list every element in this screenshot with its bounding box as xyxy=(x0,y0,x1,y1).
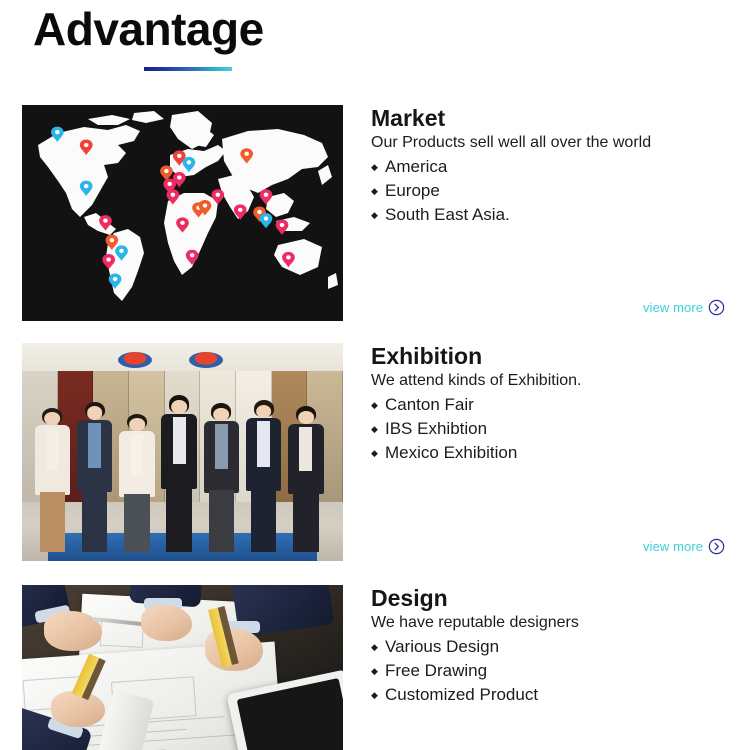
map-pin-icon xyxy=(102,254,115,270)
market-bullet-list: ◆America ◆Europe ◆South East Asia. xyxy=(371,155,736,227)
list-item-label: Free Drawing xyxy=(385,661,487,680)
person xyxy=(204,403,240,552)
map-pin-icon xyxy=(282,252,295,268)
list-item-label: IBS Exhibtion xyxy=(385,419,487,438)
legs xyxy=(166,486,192,552)
title-underline-gradient xyxy=(144,67,232,71)
map-pin-icon xyxy=(167,189,180,205)
map-pins-layer xyxy=(22,105,343,321)
market-title: Market xyxy=(371,105,736,132)
diamond-bullet-icon: ◆ xyxy=(371,683,378,707)
market-view-more-link[interactable]: view more xyxy=(643,299,725,316)
design-copy: Design We have reputable designers ◆Vari… xyxy=(371,585,736,707)
exhibition-copy: Exhibition We attend kinds of Exhibition… xyxy=(371,343,736,465)
head xyxy=(45,412,61,425)
list-item: ◆IBS Exhibtion xyxy=(371,417,736,441)
hand xyxy=(141,605,192,641)
shirt xyxy=(46,428,59,471)
section-market: Market Our Products sell well all over t… xyxy=(0,105,750,321)
person xyxy=(77,402,113,553)
legs xyxy=(293,491,319,552)
design-title: Design xyxy=(371,585,736,612)
exhibition-bullet-list: ◆Canton Fair ◆IBS Exhibtion ◆Mexico Exhi… xyxy=(371,393,736,465)
shirt xyxy=(88,423,101,468)
map-pin-icon xyxy=(51,127,64,143)
map-pin-icon xyxy=(240,148,253,164)
exhibition-subtitle: We attend kinds of Exhibition. xyxy=(371,370,736,392)
list-item-label: Mexico Exhibition xyxy=(385,443,517,462)
shirt xyxy=(173,417,186,464)
diamond-bullet-icon: ◆ xyxy=(371,441,378,465)
legs xyxy=(209,490,235,553)
page-header: Advantage xyxy=(33,0,264,58)
exhibition-title: Exhibition xyxy=(371,343,736,370)
view-more-label: view more xyxy=(643,539,703,554)
head xyxy=(256,405,272,419)
person xyxy=(288,406,324,552)
view-more-label: view more xyxy=(643,300,703,315)
exhibition-image-booth-photo[interactable] xyxy=(22,343,343,561)
list-item: ◆Customized Product xyxy=(371,683,736,707)
person xyxy=(161,395,197,552)
map-pin-icon xyxy=(183,157,196,173)
map-pin-icon xyxy=(260,189,273,205)
design-scene xyxy=(22,585,343,750)
booth-logo-icon xyxy=(189,352,223,368)
list-item: ◆Free Drawing xyxy=(371,659,736,683)
head xyxy=(171,400,187,414)
list-item: ◆Europe xyxy=(371,179,736,203)
list-item: ◆South East Asia. xyxy=(371,203,736,227)
map-pin-icon xyxy=(234,204,247,220)
map-pin-icon xyxy=(80,140,93,156)
list-item-label: Europe xyxy=(385,181,440,200)
diamond-bullet-icon: ◆ xyxy=(371,203,378,227)
person xyxy=(35,408,71,552)
map-pin-icon xyxy=(186,250,199,266)
legs xyxy=(40,492,66,553)
map-pin-icon xyxy=(260,213,273,229)
list-item-label: Various Design xyxy=(385,637,499,656)
head xyxy=(129,418,145,430)
list-item-label: Customized Product xyxy=(385,685,538,704)
diamond-bullet-icon: ◆ xyxy=(371,635,378,659)
design-bullet-list: ◆Various Design ◆Free Drawing ◆Customize… xyxy=(371,635,736,707)
legs xyxy=(82,489,108,552)
map-pin-icon xyxy=(80,181,93,197)
head xyxy=(298,411,314,424)
person xyxy=(246,400,282,552)
map-pin-icon xyxy=(109,273,122,289)
map-pin-icon xyxy=(276,219,289,235)
shirt xyxy=(257,421,270,467)
advantage-page: Advantage xyxy=(0,0,750,750)
diamond-bullet-icon: ◆ xyxy=(371,155,378,179)
list-item-label: America xyxy=(385,157,447,176)
list-item: ◆Mexico Exhibition xyxy=(371,441,736,465)
design-image-blueprint-photo[interactable] xyxy=(22,585,343,750)
section-design: Design We have reputable designers ◆Vari… xyxy=(0,585,750,750)
person xyxy=(119,414,155,552)
map-pin-icon xyxy=(176,217,189,233)
legs xyxy=(251,488,277,552)
map-pin-icon xyxy=(211,189,224,205)
list-item-label: Canton Fair xyxy=(385,395,474,414)
market-copy: Market Our Products sell well all over t… xyxy=(371,105,736,227)
map-pin-icon xyxy=(99,215,112,231)
list-item: ◆Various Design xyxy=(371,635,736,659)
chevron-right-circle-icon[interactable] xyxy=(708,299,725,316)
market-subtitle: Our Products sell well all over the worl… xyxy=(371,132,736,154)
market-image-world-map[interactable] xyxy=(22,105,343,321)
design-subtitle: We have reputable designers xyxy=(371,612,736,634)
diamond-bullet-icon: ◆ xyxy=(371,659,378,683)
head xyxy=(87,406,103,420)
list-item-label: South East Asia. xyxy=(385,205,510,224)
list-item: ◆America xyxy=(371,155,736,179)
section-exhibition: Exhibition We attend kinds of Exhibition… xyxy=(0,343,750,561)
legs xyxy=(124,494,150,552)
diamond-bullet-icon: ◆ xyxy=(371,393,378,417)
head xyxy=(214,408,230,421)
page-title: Advantage xyxy=(33,0,264,58)
list-item: ◆Canton Fair xyxy=(371,393,736,417)
shirt xyxy=(131,434,144,475)
map-pin-icon xyxy=(115,245,128,261)
booth-logo-icon xyxy=(118,352,152,368)
diamond-bullet-icon: ◆ xyxy=(371,179,378,203)
chevron-right-circle-icon[interactable] xyxy=(708,538,725,555)
exhibition-view-more-link[interactable]: view more xyxy=(643,538,725,555)
shirt xyxy=(299,427,312,471)
shirt xyxy=(215,424,228,469)
diamond-bullet-icon: ◆ xyxy=(371,417,378,441)
expo-people-group xyxy=(32,395,334,552)
expo-scene xyxy=(22,343,343,561)
